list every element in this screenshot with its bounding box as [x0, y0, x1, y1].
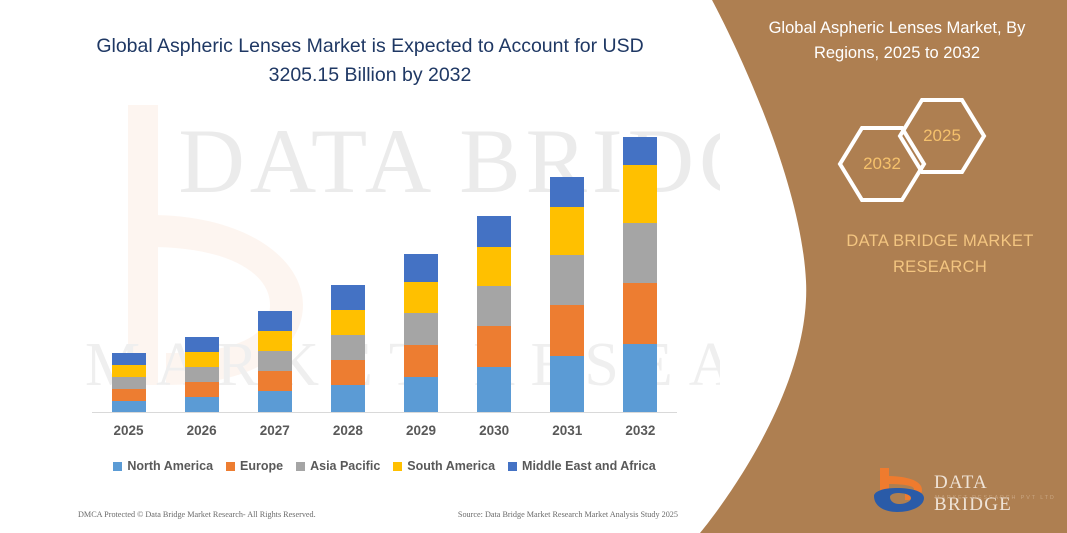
- legend-item-middle-east-and-africa[interactable]: Middle East and Africa: [508, 459, 656, 473]
- logo-wordmark: DATA BRIDGE: [934, 472, 1057, 516]
- bar-2025[interactable]: [112, 353, 146, 413]
- brand-line-1: DATA BRIDGE MARKET: [790, 228, 1067, 254]
- segment-2025-south-america[interactable]: [112, 365, 146, 377]
- segment-2030-asia-pacific[interactable]: [477, 286, 511, 326]
- segment-2026-middle-east-and-africa[interactable]: [185, 337, 219, 352]
- hexagon-2025-label: 2025: [896, 96, 988, 176]
- segment-2030-south-america[interactable]: [477, 247, 511, 286]
- bar-2028[interactable]: [331, 285, 365, 413]
- x-axis-label-2029: 2029: [386, 423, 456, 438]
- segment-2029-europe[interactable]: [404, 345, 438, 377]
- legend-item-europe[interactable]: Europe: [226, 459, 283, 473]
- segment-2032-south-america[interactable]: [623, 165, 657, 223]
- x-axis-label-2032: 2032: [605, 423, 675, 438]
- logo-subtitle: MARKET RESEARCH PVT LTD: [935, 495, 1056, 501]
- segment-2029-south-america[interactable]: [404, 282, 438, 313]
- data-bridge-b-mark-icon: [872, 466, 930, 514]
- footer-source: Source: Data Bridge Market Research Mark…: [458, 510, 678, 519]
- segment-2026-europe[interactable]: [185, 382, 219, 397]
- legend-label-south-america: South America: [407, 459, 495, 473]
- segment-2032-asia-pacific[interactable]: [623, 223, 657, 283]
- segment-2031-middle-east-and-africa[interactable]: [550, 177, 584, 207]
- legend-swatch-north-america: [113, 462, 122, 471]
- segment-2025-europe[interactable]: [112, 389, 146, 401]
- bar-2027[interactable]: [258, 311, 292, 413]
- segment-2028-middle-east-and-africa[interactable]: [331, 285, 365, 310]
- segment-2027-middle-east-and-africa[interactable]: [258, 311, 292, 331]
- bar-2031[interactable]: [550, 177, 584, 413]
- segment-2029-north-america[interactable]: [404, 377, 438, 413]
- legend-swatch-asia-pacific: [296, 462, 305, 471]
- legend-swatch-europe: [226, 462, 235, 471]
- chart-title: Global Aspheric Lenses Market is Expecte…: [60, 32, 680, 90]
- brand-line-2: RESEARCH: [790, 254, 1067, 280]
- bar-2030[interactable]: [477, 216, 511, 413]
- brand-text: DATA BRIDGE MARKET RESEARCH: [790, 228, 1067, 280]
- segment-2026-asia-pacific[interactable]: [185, 367, 219, 382]
- segment-2026-north-america[interactable]: [185, 397, 219, 413]
- segment-2028-south-america[interactable]: [331, 310, 365, 335]
- segment-2031-asia-pacific[interactable]: [550, 255, 584, 305]
- segment-2030-north-america[interactable]: [477, 367, 511, 413]
- bar-2029[interactable]: [404, 254, 438, 413]
- x-axis-label-2027: 2027: [240, 423, 310, 438]
- panel-title: Global Aspheric Lenses Market, By Region…: [742, 16, 1052, 66]
- segment-2032-middle-east-and-africa[interactable]: [623, 137, 657, 165]
- segment-2032-europe[interactable]: [623, 283, 657, 344]
- legend-item-south-america[interactable]: South America: [393, 459, 495, 473]
- legend-item-north-america[interactable]: North America: [113, 459, 213, 473]
- segment-2032-north-america[interactable]: [623, 344, 657, 413]
- chart-plot-area: [92, 110, 677, 413]
- hexagon-2025: 2025: [896, 96, 988, 176]
- segment-2027-north-america[interactable]: [258, 391, 292, 413]
- legend-swatch-middle-east-and-africa: [508, 462, 517, 471]
- x-axis-line: [92, 412, 677, 413]
- segment-2028-north-america[interactable]: [331, 385, 365, 413]
- x-axis-label-2026: 2026: [167, 423, 237, 438]
- segment-2026-south-america[interactable]: [185, 352, 219, 367]
- segment-2028-asia-pacific[interactable]: [331, 335, 365, 360]
- segment-2027-europe[interactable]: [258, 371, 292, 391]
- legend-label-asia-pacific: Asia Pacific: [310, 459, 380, 473]
- legend-swatch-south-america: [393, 462, 402, 471]
- legend-label-middle-east-and-africa: Middle East and Africa: [522, 459, 656, 473]
- segment-2031-south-america[interactable]: [550, 207, 584, 255]
- segment-2031-north-america[interactable]: [550, 356, 584, 413]
- segment-2030-middle-east-and-africa[interactable]: [477, 216, 511, 247]
- bar-2032[interactable]: [623, 137, 657, 413]
- x-axis-label-2031: 2031: [532, 423, 602, 438]
- x-axis-label-2030: 2030: [459, 423, 529, 438]
- footer: DMCA Protected © Data Bridge Market Rese…: [78, 506, 678, 522]
- legend-label-europe: Europe: [240, 459, 283, 473]
- chart-legend: North AmericaEuropeAsia PacificSouth Ame…: [92, 455, 677, 477]
- segment-2025-middle-east-and-africa[interactable]: [112, 353, 146, 365]
- segment-2025-asia-pacific[interactable]: [112, 377, 146, 389]
- legend-label-north-america: North America: [127, 459, 213, 473]
- segment-2029-middle-east-and-africa[interactable]: [404, 254, 438, 282]
- segment-2031-europe[interactable]: [550, 305, 584, 356]
- legend-item-asia-pacific[interactable]: Asia Pacific: [296, 459, 380, 473]
- bar-2026[interactable]: [185, 337, 219, 413]
- x-axis-labels: 20252026202720282029203020312032: [92, 423, 677, 447]
- infographic-root: DATA BRIDGE MARKET RESEARCH Global Asphe…: [0, 0, 1067, 533]
- segment-2028-europe[interactable]: [331, 360, 365, 385]
- x-axis-label-2028: 2028: [313, 423, 383, 438]
- segment-2027-south-america[interactable]: [258, 331, 292, 351]
- x-axis-label-2025: 2025: [94, 423, 164, 438]
- segment-2027-asia-pacific[interactable]: [258, 351, 292, 371]
- footer-copyright: DMCA Protected © Data Bridge Market Rese…: [78, 510, 316, 519]
- segment-2030-europe[interactable]: [477, 326, 511, 367]
- segment-2029-asia-pacific[interactable]: [404, 313, 438, 345]
- hexagon-group: 2032 2025: [818, 96, 998, 206]
- data-bridge-logo: DATA BRIDGE MARKET RESEARCH PVT LTD: [872, 466, 1057, 518]
